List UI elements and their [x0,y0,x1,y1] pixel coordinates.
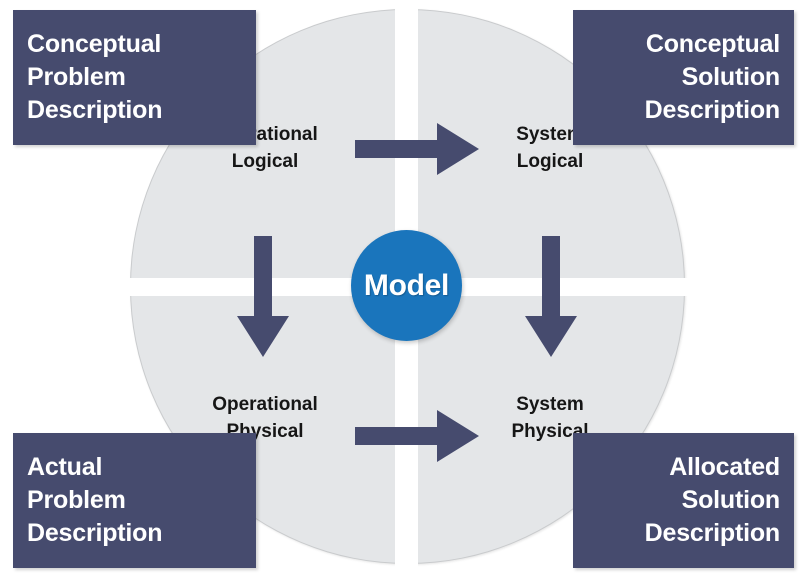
corner-box-line-2: Solution [587,484,780,517]
corner-box-line-2: Problem [27,484,242,517]
corner-box-line-3: Description [27,94,242,127]
corner-box-line-1: Actual [27,451,242,484]
corner-box-allocated-solution-description: Allocated Solution Description [573,433,794,568]
arrow-down-icon [237,236,289,357]
arrow-system-logical-to-system-physical [525,236,577,357]
center-model-label: Model [364,269,449,303]
quadrant-label-line-2: Logical [175,149,355,176]
corner-box-conceptual-solution-description: Conceptual Solution Description [573,10,794,145]
corner-box-line-3: Description [27,517,242,550]
arrow-operational-physical-to-system-physical [355,410,479,462]
arrow-operational-logical-to-operational-physical [237,236,289,357]
arrow-down-icon [525,236,577,357]
corner-box-line-2: Solution [587,61,780,94]
arrow-right-icon [355,123,479,175]
diagram-canvas: Operational Logical System Logical Opera… [0,0,808,578]
corner-box-line-2: Problem [27,61,242,94]
corner-box-actual-problem-description: Actual Problem Description [13,433,256,568]
quadrant-label-line-2: Logical [470,149,630,176]
arrow-operational-logical-to-system-logical [355,123,479,175]
quadrant-label-line-1: System [470,392,630,419]
corner-box-line-1: Conceptual [27,28,242,61]
corner-box-line-1: Allocated [587,451,780,484]
corner-box-line-1: Conceptual [587,28,780,61]
corner-box-line-3: Description [587,517,780,550]
quadrant-label-line-1: Operational [175,392,355,419]
arrow-right-icon [355,410,479,462]
corner-box-conceptual-problem-description: Conceptual Problem Description [13,10,256,145]
corner-box-line-3: Description [587,94,780,127]
center-model-circle: Model [351,230,462,341]
